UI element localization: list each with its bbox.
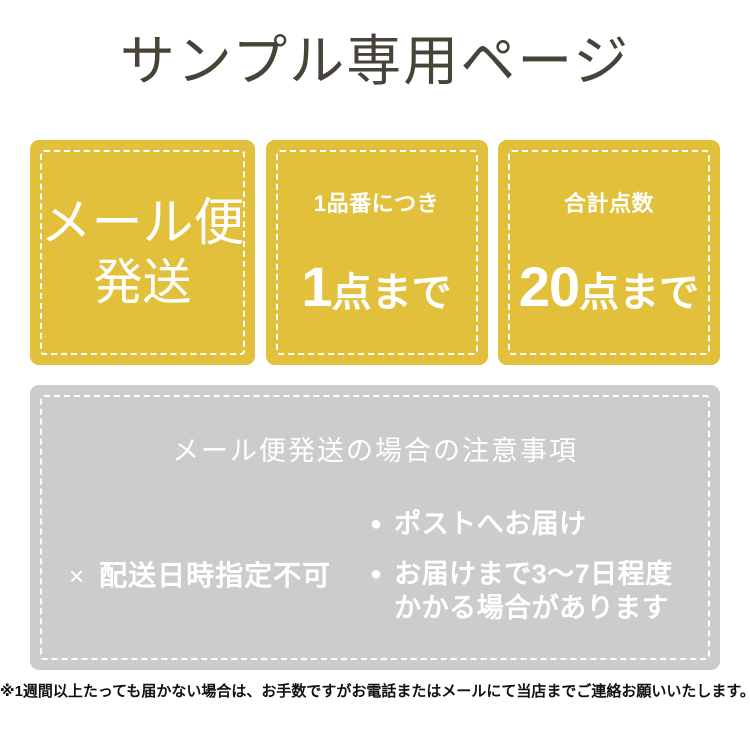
bullet-text: お届けまで3〜7日程度 かかる場合があります: [394, 557, 673, 625]
notice-body: × 配送日時指定不可 ● ポストへお届け ● お届けまで3〜7日程度 かかる場合…: [30, 503, 720, 643]
cross-mark-icon: ×: [69, 559, 85, 593]
bullet-text: ポストへお届け: [394, 507, 587, 541]
no-delivery-time-designation: × 配送日時指定不可: [69, 559, 331, 593]
notice-panel: メール便発送の場合の注意事項 × 配送日時指定不可 ● ポストへお届け ●: [30, 385, 720, 670]
total-limit-number: 20: [519, 259, 579, 315]
feature-box-per-item-limit: 1品番につき 1 点まで: [266, 140, 488, 365]
notice-heading: メール便発送の場合の注意事項: [30, 435, 720, 467]
sample-shipping-banner: サンプル専用ページ メール便 発送 1品番につき 1 点まで 合計点数 20 点…: [0, 0, 750, 750]
feature-box-shipping-method: メール便 発送: [30, 140, 255, 365]
total-limit-value: 20 点まで: [519, 259, 699, 315]
per-item-limit-unit: 点まで: [332, 273, 452, 313]
list-item: ● お届けまで3〜7日程度 かかる場合があります: [370, 557, 720, 625]
bullet-dot-icon: ●: [370, 507, 382, 541]
bullet-text-line2: かかる場合があります: [394, 591, 673, 625]
notice-bullet-list: ● ポストへお届け ● お届けまで3〜7日程度 かかる場合があります: [370, 503, 720, 641]
per-item-limit-value: 1 点まで: [301, 259, 451, 315]
list-item: ● ポストへお届け: [370, 507, 720, 541]
per-item-limit-number: 1: [301, 259, 331, 315]
feature-box-total-limit: 合計点数 20 点まで: [498, 140, 720, 365]
bullet-text-line1: お届けまで3〜7日程度: [394, 559, 673, 589]
shipping-method-line2: 発送: [93, 253, 191, 313]
dashed-border-decoration: [276, 150, 478, 355]
dashed-border-decoration: [508, 150, 710, 355]
feature-box-row: メール便 発送 1品番につき 1 点まで 合計点数 20 点まで: [30, 140, 720, 365]
footer-note: ※1週間以上たっても届かない場合は、お手数ですがお電話またはメールにて当店までご…: [0, 681, 750, 703]
shipping-method-line1: メール便: [40, 193, 244, 253]
total-limit-unit: 点まで: [579, 273, 699, 313]
total-limit-label: 合計点数: [564, 191, 654, 217]
per-item-limit-label: 1品番につき: [314, 191, 439, 217]
page-title: サンプル専用ページ: [0, 28, 750, 94]
bullet-dot-icon: ●: [370, 557, 382, 591]
no-delivery-time-designation-label: 配送日時指定不可: [99, 559, 331, 593]
bullet-text-line1: ポストへお届け: [394, 509, 587, 539]
notice-left-column: × 配送日時指定不可: [30, 503, 370, 643]
